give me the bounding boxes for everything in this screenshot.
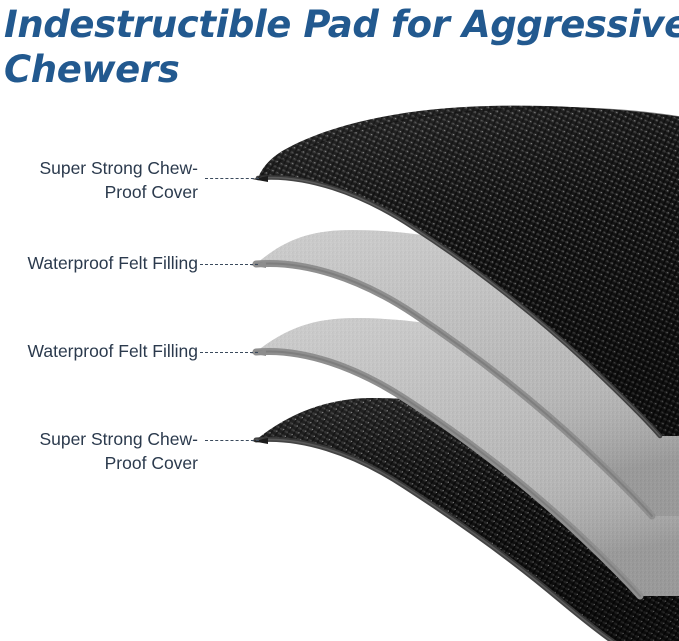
callout-label-bottom-cover: Super Strong Chew- Proof Cover	[0, 427, 198, 475]
layer-tips	[250, 176, 268, 444]
leader-line-bottom-cover	[205, 440, 259, 441]
layer-diagram	[0, 0, 679, 641]
callout-label-top-cover: Super Strong Chew- Proof Cover	[0, 156, 198, 204]
callout-label-felt-lower: Waterproof Felt Filling	[0, 339, 198, 363]
leader-line-felt-lower	[200, 352, 258, 353]
product-infographic: Indestructible Pad for Aggressive Chewer…	[0, 0, 679, 641]
callout-label-felt-upper: Waterproof Felt Filling	[0, 251, 198, 275]
leader-line-felt-upper	[200, 264, 258, 265]
leader-line-top-cover	[205, 178, 259, 179]
